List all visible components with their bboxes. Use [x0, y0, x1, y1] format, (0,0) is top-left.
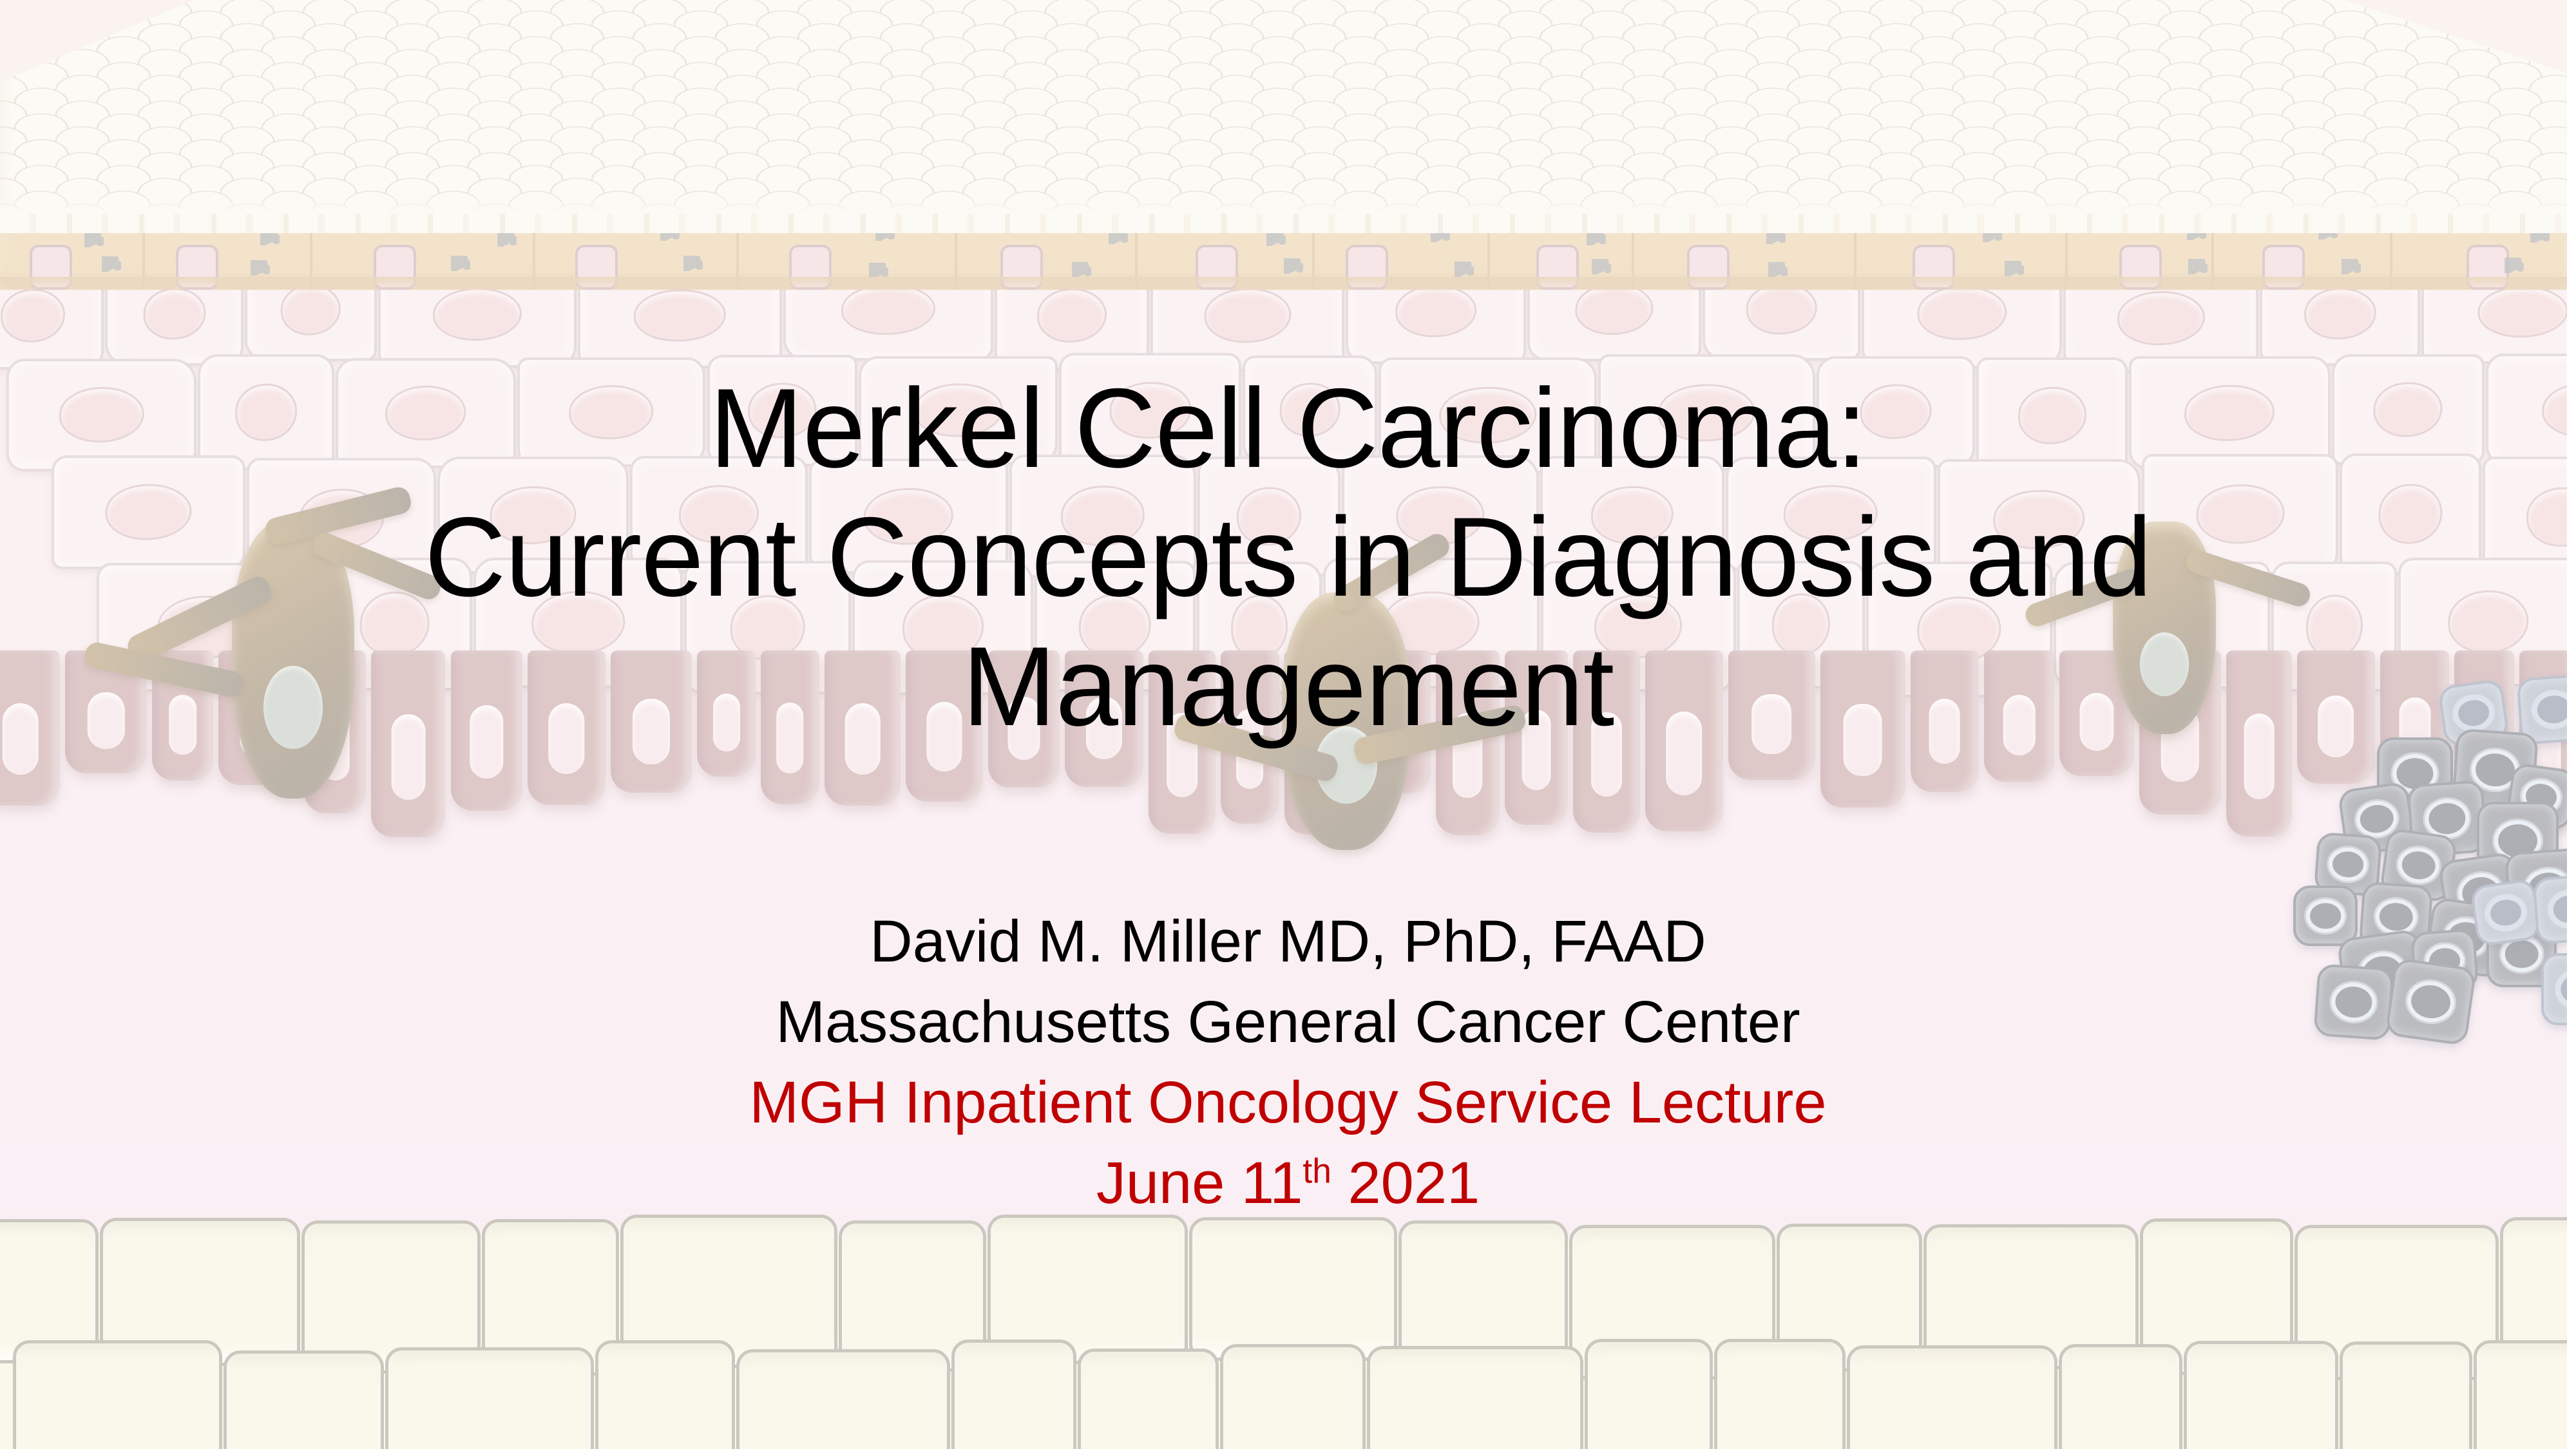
- adipocyte: [1367, 1346, 1583, 1449]
- title-line-3: Management: [0, 623, 2576, 752]
- keratinocyte-nucleus: [1204, 288, 1291, 343]
- keratinocyte-nucleus: [433, 288, 522, 341]
- adipocyte: [736, 1349, 950, 1449]
- presenter-name: David M. Miller MD, PhD, FAAD: [0, 902, 2576, 982]
- keratinocyte-nucleus: [1395, 285, 1476, 337]
- slide-title: Merkel Cell Carcinoma: Current Concepts …: [0, 365, 2576, 752]
- date-year: 2021: [1331, 1150, 1480, 1216]
- adipocyte: [1220, 1344, 1366, 1449]
- granulosum-shadow: [0, 277, 2567, 291]
- adipocyte: [1189, 1217, 1397, 1361]
- date-ordinal-suffix: th: [1302, 1153, 1331, 1191]
- adipocyte: [13, 1340, 222, 1449]
- keratinocyte-nucleus: [2304, 288, 2376, 339]
- keratinocyte-nucleus: [634, 289, 725, 341]
- keratohyalin-granule: [497, 231, 517, 247]
- keratinocyte-nucleus: [1, 289, 65, 342]
- keratohyalin-granule: [869, 263, 888, 278]
- corneum-serrated-edge: [0, 214, 2576, 233]
- lecture-date: June 11th 2021: [0, 1143, 2576, 1224]
- merkel-tumour-cell-nucleus: [2396, 844, 2442, 885]
- keratohyalin-granule: [2504, 258, 2524, 273]
- title-line-1: Merkel Cell Carcinoma:: [0, 365, 2576, 493]
- institution-name: Massachusetts General Cancer Center: [0, 982, 2576, 1063]
- keratinocyte-nucleus: [1037, 288, 1107, 342]
- keratohyalin-granule: [251, 260, 270, 276]
- keratohyalin-granule: [2005, 261, 2024, 276]
- event-name: MGH Inpatient Oncology Service Lecture: [0, 1063, 2576, 1143]
- keratohyalin-granule: [683, 256, 703, 271]
- keratinocyte-nucleus: [841, 284, 935, 334]
- subcutaneous-fat-layer: [0, 1236, 2567, 1449]
- keratohyalin-granule: [1455, 261, 1474, 277]
- keratohyalin-granule: [451, 256, 470, 271]
- adipocyte: [1078, 1349, 1218, 1449]
- stratum-corneum-layer: [0, 0, 2576, 227]
- title-slide: Merkel Cell Carcinoma: Current Concepts …: [0, 0, 2576, 1449]
- keratohyalin-granule: [1284, 258, 1303, 274]
- keratohyalin-granule: [1592, 259, 1611, 274]
- adipocyte: [224, 1350, 384, 1449]
- adipocyte: [951, 1340, 1076, 1449]
- date-prefix: June 11: [1096, 1150, 1303, 1216]
- adipocyte: [1585, 1339, 1713, 1449]
- keratohyalin-granule: [1768, 262, 1788, 278]
- keratohyalin-granule: [84, 232, 104, 247]
- keratinocyte-nucleus: [143, 289, 205, 340]
- title-line-2: Current Concepts in Diagnosis and: [0, 493, 2576, 622]
- keratohyalin-granule: [1072, 262, 1091, 278]
- keratinocyte-nucleus: [2117, 291, 2205, 345]
- keratinocyte-nucleus: [1917, 286, 2007, 340]
- slide-subtitle: David M. Miller MD, PhD, FAAD Massachuse…: [0, 902, 2576, 1224]
- adipocyte: [2340, 1341, 2472, 1449]
- adipocyte: [2184, 1341, 2338, 1449]
- merkel-tumour-cell-nucleus: [2327, 846, 2368, 882]
- keratohyalin-granule: [2188, 259, 2208, 274]
- keratohyalin-granule: [2342, 259, 2361, 274]
- keratinocyte-nucleus: [2477, 286, 2568, 337]
- adipocyte: [2059, 1344, 2182, 1449]
- adipocyte: [385, 1347, 594, 1449]
- keratinocyte-nucleus: [281, 285, 340, 336]
- adipocyte: [2474, 1340, 2576, 1449]
- adipocyte: [595, 1340, 735, 1449]
- keratohyalin-granule: [102, 256, 121, 272]
- adipocyte: [1847, 1345, 2057, 1449]
- keratinocyte-nucleus: [1576, 283, 1654, 335]
- adipocyte: [1714, 1339, 1846, 1449]
